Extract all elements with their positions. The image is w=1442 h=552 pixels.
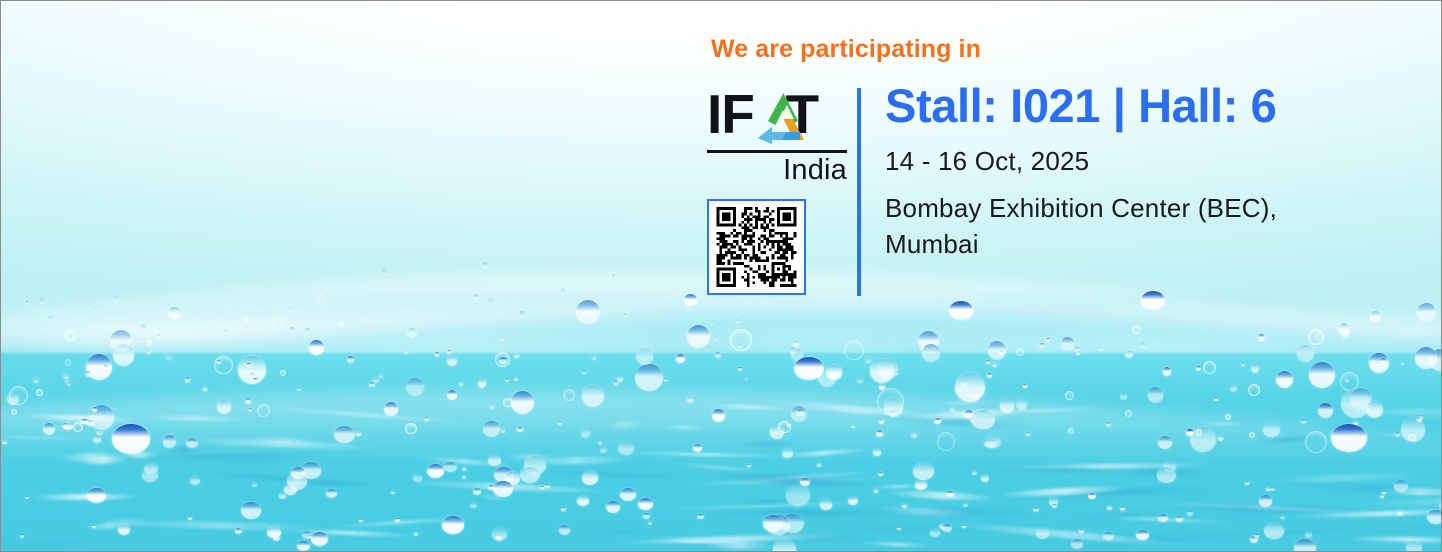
event-date-text: 14 - 16 Oct, 2025 (885, 147, 1367, 176)
ifat-india-participation-banner: We are participating in IFAT (0, 0, 1442, 552)
event-venue-text: Bombay Exhibition Center (BEC), Mumbai (885, 191, 1355, 263)
brand-column: IFAT India (707, 80, 847, 295)
event-details-column: Stall: I021 | Hall: 6 14 - 16 Oct, 2025 … (861, 80, 1367, 263)
ifat-logo: IFAT (707, 84, 847, 148)
info-row: IFAT India (707, 80, 1367, 296)
ifat-triangle-icon (756, 91, 812, 145)
qr-code-image (715, 207, 798, 287)
ifat-subtitle: India (707, 155, 847, 185)
qr-code[interactable] (707, 199, 806, 295)
participation-kicker-text: We are participating in (711, 37, 1367, 62)
banner-content: We are participating in IFAT (707, 37, 1367, 296)
stall-hall-heading: Stall: I021 | Hall: 6 (885, 82, 1367, 131)
ifat-logo-rule (707, 150, 847, 153)
